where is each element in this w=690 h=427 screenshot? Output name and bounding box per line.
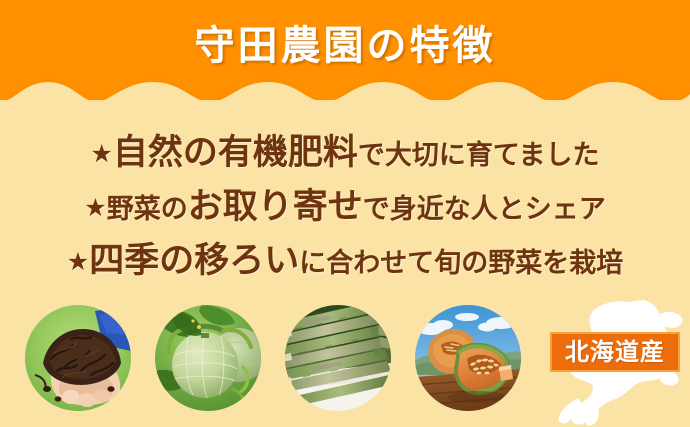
feature-line-2-emphasis: お取り寄せ	[188, 187, 363, 227]
feature-line-2-rest: で身近な人とシェア	[363, 194, 606, 225]
photo-green-melon-on-vine	[155, 305, 261, 411]
star-icon: ★	[84, 193, 106, 222]
feature-line-1: ★自然の有機肥料で大切に育てました	[0, 126, 690, 180]
promo-banner: 守田農園の特徴 ★自然の有機肥料で大切に育てました ★野菜のお取り寄せで身近な人…	[0, 0, 690, 427]
page-title: 守田農園の特徴	[0, 0, 690, 92]
feature-line-3-emphasis: 四季の移ろい	[89, 241, 299, 281]
feature-line-1-emphasis: 自然の有機肥料	[113, 133, 358, 173]
feature-line-3-rest: に合わせて旬の野菜を栽培	[299, 248, 623, 279]
feature-line-1-rest: で大切に育てました	[358, 140, 600, 171]
feature-line-2-prefix: 野菜の	[107, 194, 188, 225]
feature-line-2: ★野菜のお取り寄せで身近な人とシェア	[0, 180, 690, 234]
photo-compost-soil-in-hands	[25, 305, 131, 411]
photo-cut-orange-melon	[415, 305, 521, 411]
origin-badge: 北海道産	[550, 332, 680, 372]
feature-list: ★自然の有機肥料で大切に育てました ★野菜のお取り寄せで身近な人とシェア ★四季…	[0, 126, 690, 288]
feature-line-3: ★四季の移ろいに合わせて旬の野菜を栽培	[0, 234, 690, 288]
star-icon: ★	[90, 139, 112, 168]
star-icon: ★	[67, 247, 89, 276]
photo-asparagus-bundle	[285, 305, 391, 411]
